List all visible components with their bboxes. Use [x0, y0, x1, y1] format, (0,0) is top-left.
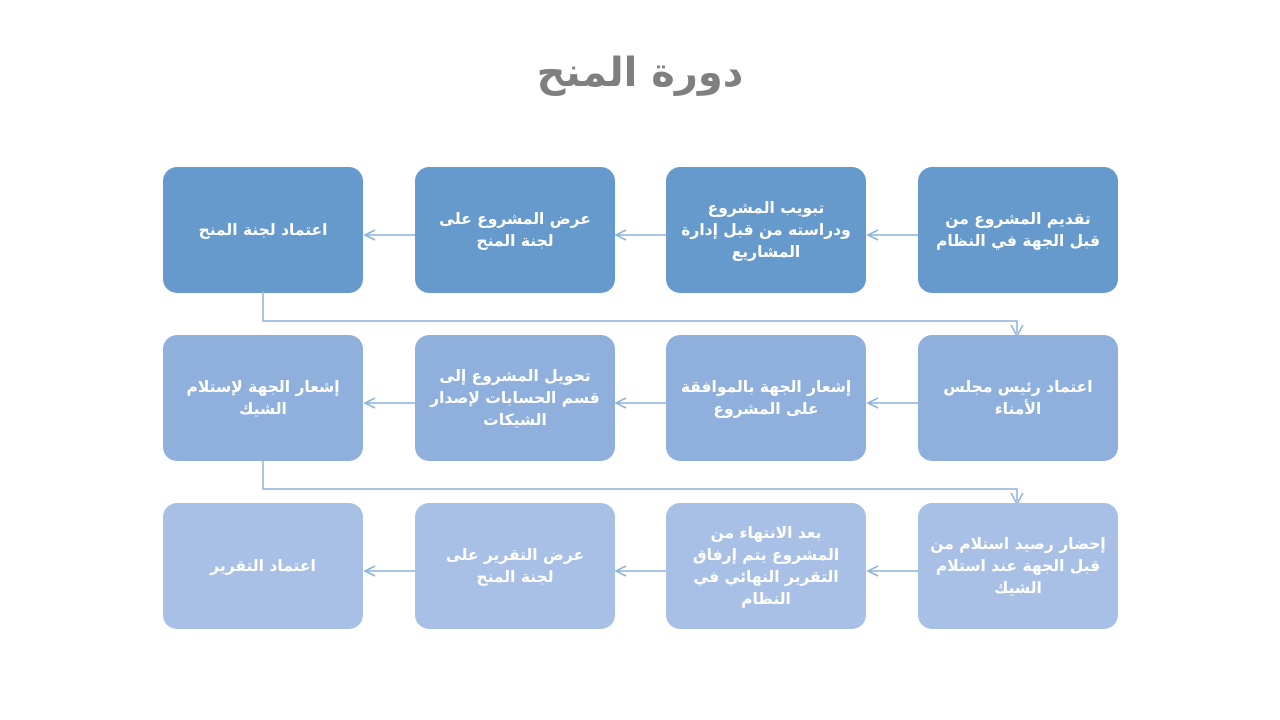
flow-node-11[interactable]: عرض التقرير على لجنة المنح: [415, 503, 615, 629]
arrow-left-icon: [866, 565, 918, 577]
flow-node-label: بعد الانتهاء من المشروع يتم إرفاق التقري…: [678, 522, 854, 610]
arrow-left-icon: [866, 229, 918, 241]
arrow-left-icon: [363, 565, 415, 577]
arrow-left-icon: [614, 229, 666, 241]
flow-node-12[interactable]: اعتماد التقرير: [163, 503, 363, 629]
flow-node-5[interactable]: اعتماد رئيس مجلس الأمناء: [918, 335, 1118, 461]
flow-node-label: إشعار الجهة بالموافقة على المشروع: [678, 376, 854, 420]
flow-node-8[interactable]: إشعار الجهة لإستلام الشيك: [163, 335, 363, 461]
flow-node-2[interactable]: تبويب المشروع ودراسته من قبل إدارة المشا…: [666, 167, 866, 293]
flow-node-label: تقديم المشروع من قبل الجهة في النظام: [930, 208, 1106, 252]
flow-node-10[interactable]: بعد الانتهاء من المشروع يتم إرفاق التقري…: [666, 503, 866, 629]
flow-node-label: إحضار رصيد استلام من قبل الجهة عند استلا…: [930, 533, 1106, 599]
slide-canvas: دورة المنح تقديم المشروع من قبل الجهة في…: [0, 0, 1280, 720]
flow-node-4[interactable]: اعتماد لجنة المنح: [163, 167, 363, 293]
flow-node-7[interactable]: تحويل المشروع إلى قسم الحسابات لإصدار ال…: [415, 335, 615, 461]
flow-node-label: اعتماد لجنة المنح: [199, 219, 328, 241]
arrow-left-icon: [866, 397, 918, 409]
arrow-left-icon: [363, 229, 415, 241]
flow-node-3[interactable]: عرض المشروع على لجنة المنح: [415, 167, 615, 293]
flow-node-1[interactable]: تقديم المشروع من قبل الجهة في النظام: [918, 167, 1118, 293]
arrow-left-icon: [614, 565, 666, 577]
flow-node-label: اعتماد رئيس مجلس الأمناء: [930, 376, 1106, 420]
flow-row-2: اعتماد رئيس مجلس الأمناء إشعار الجهة بال…: [0, 335, 1280, 465]
flow-node-9[interactable]: إحضار رصيد استلام من قبل الجهة عند استلا…: [918, 503, 1118, 629]
arrow-left-icon: [614, 397, 666, 409]
arrow-left-icon: [363, 397, 415, 409]
flow-row-3: إحضار رصيد استلام من قبل الجهة عند استلا…: [0, 503, 1280, 633]
flow-row-1: تقديم المشروع من قبل الجهة في النظام تبو…: [0, 167, 1280, 297]
flow-node-label: تبويب المشروع ودراسته من قبل إدارة المشا…: [678, 197, 854, 263]
flow-node-label: إشعار الجهة لإستلام الشيك: [175, 376, 351, 420]
page-title: دورة المنح: [0, 50, 1280, 96]
flow-node-6[interactable]: إشعار الجهة بالموافقة على المشروع: [666, 335, 866, 461]
flow-node-label: تحويل المشروع إلى قسم الحسابات لإصدار ال…: [427, 365, 603, 431]
flow-node-label: عرض التقرير على لجنة المنح: [427, 544, 603, 588]
flow-node-label: عرض المشروع على لجنة المنح: [427, 208, 603, 252]
flow-node-label: اعتماد التقرير: [210, 555, 316, 577]
